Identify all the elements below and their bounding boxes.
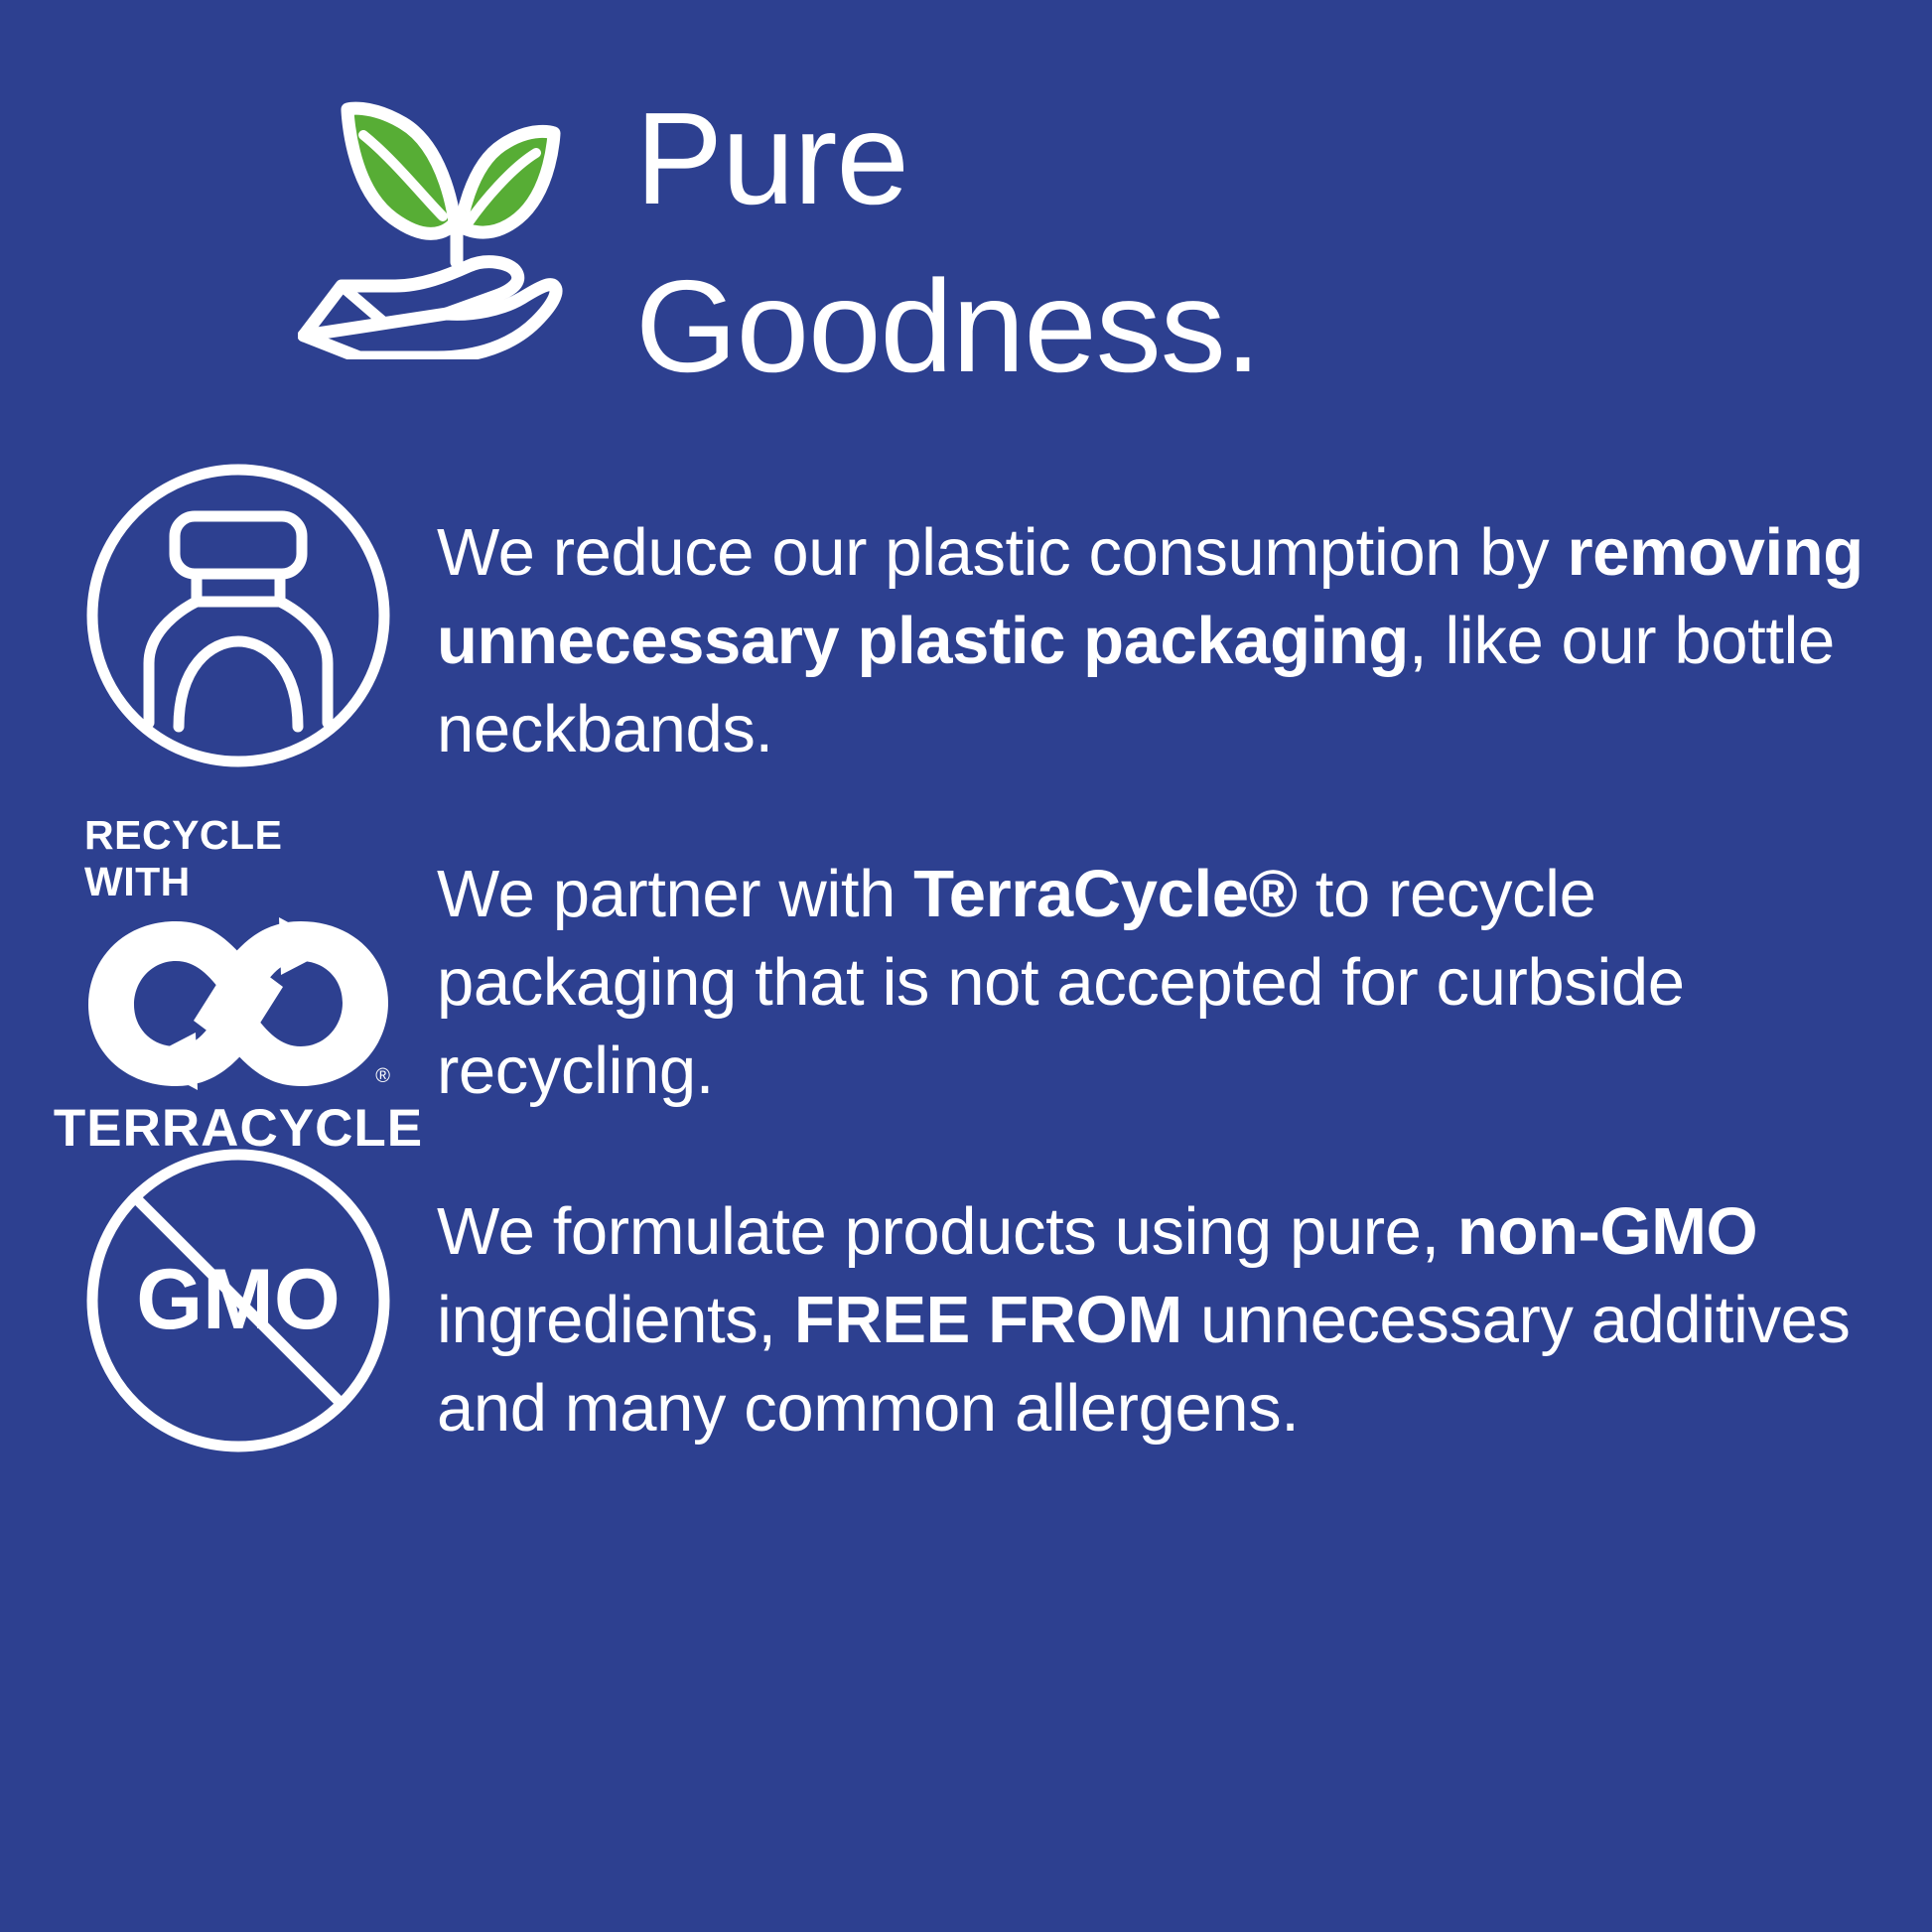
terracycle-top-label: RECYCLE WITH <box>84 812 392 905</box>
registered-trademark-icon: ® <box>375 1066 390 1086</box>
no-gmo-icon: GMO <box>0 1142 437 1459</box>
gmo-label: GMO <box>136 1252 340 1347</box>
header: Pure Goodness. <box>298 79 1260 411</box>
text-segment: ingredients, <box>437 1283 794 1357</box>
hand-holding-sprout-icon <box>298 91 596 359</box>
text-segment-bold: FREE FROM <box>794 1283 1182 1357</box>
benefit-row-plastic: We reduce our plastic consumption by rem… <box>0 457 1932 774</box>
pure-goodness-poster: Pure Goodness. <box>0 0 1932 1932</box>
page-title: Pure Goodness. <box>635 75 1260 411</box>
text-segment: We reduce our plastic consumption by <box>437 515 1567 590</box>
benefit-row-gmo: GMO We formulate products using pure, no… <box>0 1142 1932 1459</box>
bottle-in-circle-icon <box>0 457 437 774</box>
benefit-text-gmo: We formulate products using pure, non-GM… <box>437 1187 1932 1452</box>
text-segment-bold: TerraCycle® <box>913 857 1297 931</box>
terracycle-infinity-mark: ® <box>84 913 392 1092</box>
text-segment: We formulate products using pure, <box>437 1194 1457 1269</box>
text-segment-bold: non-GMO <box>1457 1194 1757 1269</box>
text-segment: We partner with <box>437 857 913 931</box>
benefit-text-terracycle: We partner with TerraCycle® to recycle p… <box>437 850 1932 1115</box>
terracycle-logo-icon: RECYCLE WITH <box>0 812 437 1159</box>
benefit-text-plastic: We reduce our plastic consumption by rem… <box>437 508 1932 773</box>
terracycle-lockup: RECYCLE WITH <box>84 812 392 1159</box>
benefit-row-terracycle: RECYCLE WITH <box>0 812 1932 1159</box>
